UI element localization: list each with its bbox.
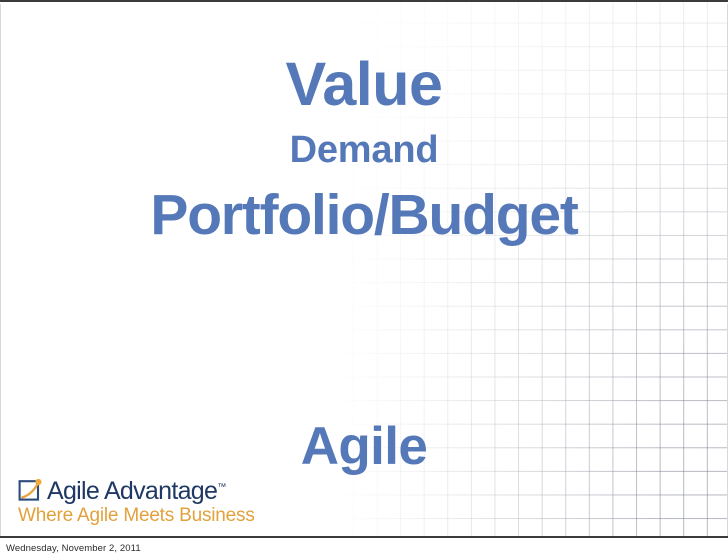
footer-date: Wednesday, November 2, 2011 xyxy=(6,543,141,554)
headline-line-value: Value xyxy=(0,54,728,115)
logo-tagline: Where Agile Meets Business xyxy=(18,506,234,526)
headline-line-demand: Demand xyxy=(0,131,728,169)
growth-chart-square-icon xyxy=(18,477,43,502)
logo-wordmark-text: Agile Advantage xyxy=(47,477,217,505)
agile-advantage-logo: Agile Advantage™ Where Agile Meets Busin… xyxy=(18,477,234,526)
slide-root: Value Demand Portfolio/Budget Agile Agil… xyxy=(0,0,728,560)
slide-canvas: Value Demand Portfolio/Budget Agile Agil… xyxy=(0,0,728,538)
logo-trademark-symbol: ™ xyxy=(217,482,226,492)
headline-line-portfolio-budget: Portfolio/Budget xyxy=(0,187,728,244)
logo-row: Agile Advantage™ xyxy=(18,477,234,504)
headline-stack: Value Demand Portfolio/Budget xyxy=(0,54,728,244)
subject-heading-agile: Agile xyxy=(0,420,728,473)
logo-wordmark: Agile Advantage™ xyxy=(47,479,226,504)
